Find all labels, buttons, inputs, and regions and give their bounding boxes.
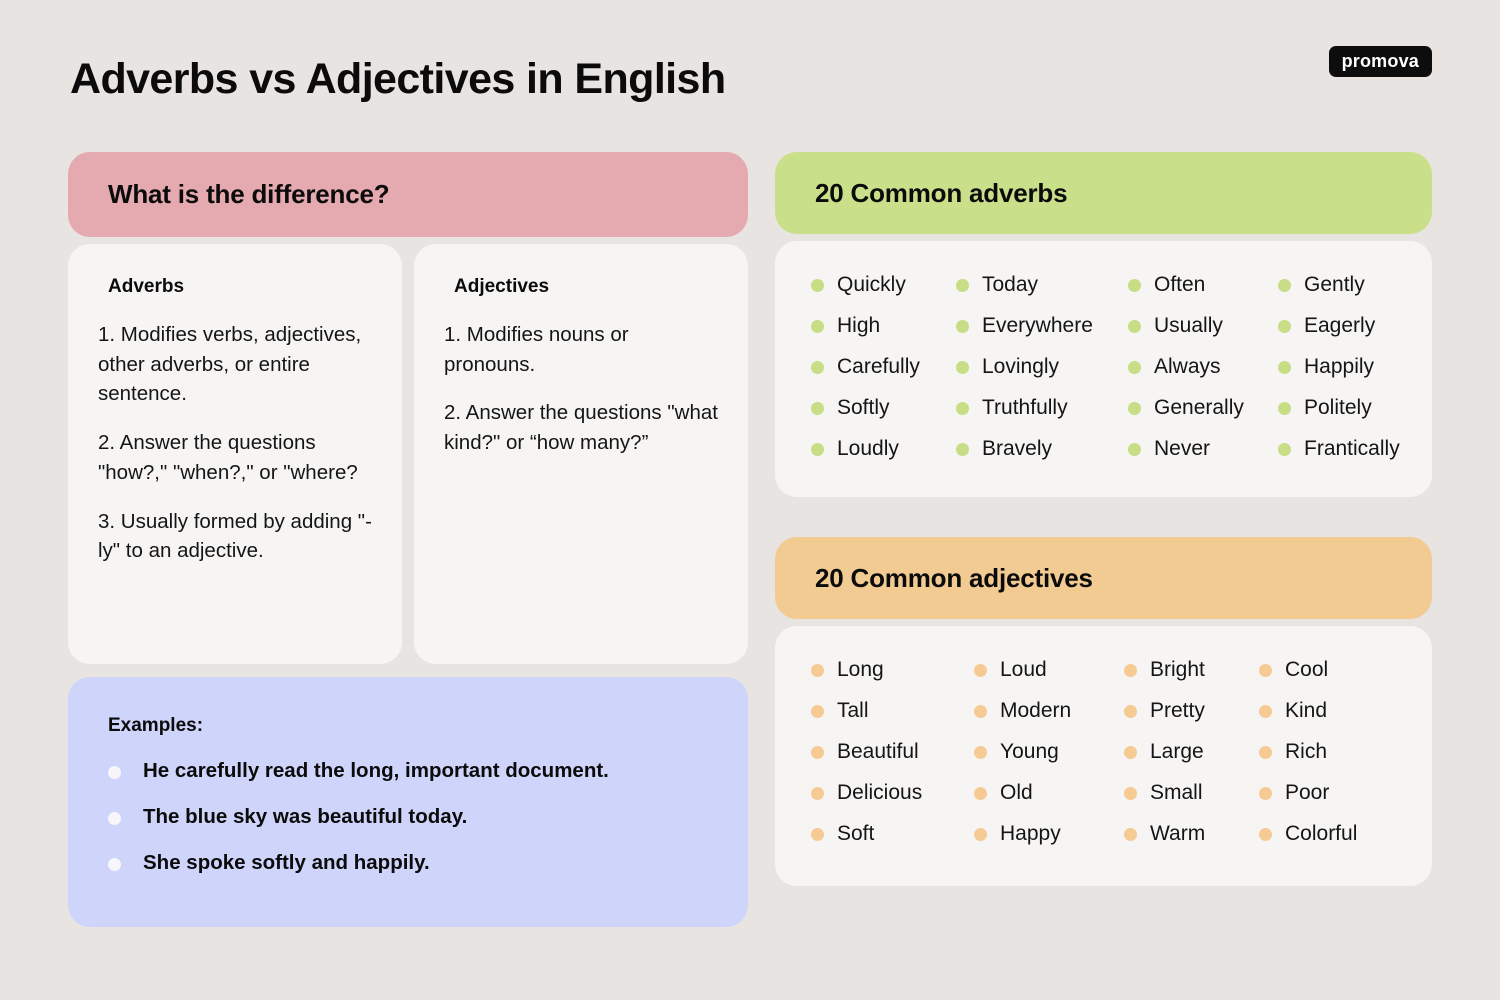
word-label: Usually — [1154, 314, 1223, 338]
bullet-dot-icon — [974, 828, 987, 841]
word-item: Gently — [1278, 273, 1402, 297]
bullet-dot-icon — [956, 279, 969, 292]
page-header: Adverbs vs Adjectives in English promova — [0, 0, 1500, 140]
bullet-dot-icon — [811, 279, 824, 292]
bullet-dot-icon — [811, 828, 824, 841]
word-label: Loudly — [837, 437, 899, 461]
promova-logo: promova — [1329, 46, 1432, 77]
word-item: Politely — [1278, 396, 1402, 420]
word-label: Quickly — [837, 273, 906, 297]
word-label: Rich — [1285, 740, 1327, 764]
word-label: Today — [982, 273, 1038, 297]
word-label: Young — [1000, 740, 1059, 764]
bullet-dot-icon — [1259, 664, 1272, 677]
word-item: Usually — [1128, 314, 1278, 338]
word-label: Poor — [1285, 781, 1329, 805]
bullet-dot-icon — [1259, 705, 1272, 718]
adjectives-definition-heading: Adjectives — [444, 276, 718, 298]
bullet-dot-icon — [1128, 443, 1141, 456]
bullet-dot-icon — [811, 746, 824, 759]
right-column: 20 Common adverbs Quickly Today Often Ge… — [775, 152, 1432, 886]
word-label: Often — [1154, 273, 1205, 297]
word-item: Often — [1128, 273, 1278, 297]
word-label: Old — [1000, 781, 1033, 805]
word-label: Beautiful — [837, 740, 919, 764]
word-item: Small — [1124, 781, 1259, 805]
word-label: Warm — [1150, 822, 1205, 846]
bullet-dot-icon — [811, 361, 824, 374]
word-label: Delicious — [837, 781, 922, 805]
word-label: Pretty — [1150, 699, 1205, 723]
bullet-dot-icon — [811, 320, 824, 333]
word-label: Happy — [1000, 822, 1061, 846]
word-label: Long — [837, 658, 884, 682]
bullet-dot-icon — [956, 320, 969, 333]
bullet-dot-icon — [108, 812, 121, 825]
bullet-dot-icon — [1278, 402, 1291, 415]
word-item: Warm — [1124, 822, 1259, 846]
bullet-dot-icon — [108, 766, 121, 779]
adverbs-banner: 20 Common adverbs — [775, 152, 1432, 234]
bullet-dot-icon — [108, 858, 121, 871]
word-item: Pretty — [1124, 699, 1259, 723]
word-label: Always — [1154, 355, 1221, 379]
word-label: Cool — [1285, 658, 1328, 682]
word-label: Lovingly — [982, 355, 1059, 379]
word-label: Softly — [837, 396, 890, 420]
left-column: What is the difference? Adverbs 1. Modif… — [68, 152, 748, 927]
word-item: Rich — [1259, 740, 1402, 764]
word-item: Tall — [811, 699, 974, 723]
word-label: High — [837, 314, 880, 338]
examples-label: Examples: — [108, 715, 712, 737]
definition-item: 2. Answer the questions "what kind?" or … — [444, 398, 718, 457]
word-label: Bravely — [982, 437, 1052, 461]
adjectives-banner: 20 Common adjectives — [775, 537, 1432, 619]
word-item: Delicious — [811, 781, 974, 805]
promova-logo-text: promova — [1342, 52, 1419, 70]
difference-banner-title: What is the difference? — [108, 179, 389, 210]
word-label: Truthfully — [982, 396, 1068, 420]
word-label: Everywhere — [982, 314, 1093, 338]
definition-item: 1. Modifies verbs, adjectives, other adv… — [98, 320, 372, 409]
bullet-dot-icon — [1278, 279, 1291, 292]
bullet-dot-icon — [956, 402, 969, 415]
word-item: Loud — [974, 658, 1124, 682]
definition-item: 3. Usually formed by adding "-ly" to an … — [98, 507, 372, 566]
word-label: Gently — [1304, 273, 1365, 297]
definition-item: 2. Answer the questions "how?," "when?,"… — [98, 428, 372, 487]
difference-banner: What is the difference? — [68, 152, 748, 237]
word-label: Eagerly — [1304, 314, 1375, 338]
word-item: Bravely — [956, 437, 1128, 461]
word-item: Bright — [1124, 658, 1259, 682]
example-item: He carefully read the long, important do… — [108, 759, 712, 783]
adverbs-definition-card: Adverbs 1. Modifies verbs, adjectives, o… — [68, 244, 402, 664]
adverbs-word-grid: Quickly Today Often Gently High Everywhe… — [811, 273, 1402, 461]
definition-item: 1. Modifies nouns or pronouns. — [444, 320, 718, 379]
word-item: Today — [956, 273, 1128, 297]
word-label: Frantically — [1304, 437, 1400, 461]
word-label: Carefully — [837, 355, 920, 379]
bullet-dot-icon — [1259, 828, 1272, 841]
word-item: Colorful — [1259, 822, 1402, 846]
word-label: Tall — [837, 699, 869, 723]
bullet-dot-icon — [811, 664, 824, 677]
bullet-dot-icon — [811, 443, 824, 456]
bullet-dot-icon — [956, 443, 969, 456]
bullet-dot-icon — [974, 746, 987, 759]
bullet-dot-icon — [1128, 320, 1141, 333]
word-label: Politely — [1304, 396, 1372, 420]
adjectives-word-grid: Long Loud Bright Cool Tall Modern Pretty… — [811, 658, 1402, 846]
adjectives-banner-title: 20 Common adjectives — [815, 563, 1093, 594]
bullet-dot-icon — [974, 705, 987, 718]
word-label: Happily — [1304, 355, 1374, 379]
word-item: Happy — [974, 822, 1124, 846]
word-item: High — [811, 314, 956, 338]
bullet-dot-icon — [1259, 787, 1272, 800]
adverbs-definition-heading: Adverbs — [98, 276, 372, 298]
example-item: The blue sky was beautiful today. — [108, 805, 712, 829]
bullet-dot-icon — [1128, 402, 1141, 415]
word-item: Large — [1124, 740, 1259, 764]
adverbs-definition-list: 1. Modifies verbs, adjectives, other adv… — [98, 320, 372, 566]
word-item: Lovingly — [956, 355, 1128, 379]
adjectives-definition-list: 1. Modifies nouns or pronouns. 2. Answer… — [444, 320, 718, 458]
bullet-dot-icon — [1124, 828, 1137, 841]
section-spacer — [775, 497, 1432, 537]
word-item: Poor — [1259, 781, 1402, 805]
examples-box: Examples: He carefully read the long, im… — [68, 677, 748, 927]
word-item: Long — [811, 658, 974, 682]
example-text: The blue sky was beautiful today. — [143, 805, 467, 829]
bullet-dot-icon — [1124, 664, 1137, 677]
word-item: Always — [1128, 355, 1278, 379]
word-item: Never — [1128, 437, 1278, 461]
bullet-dot-icon — [1124, 787, 1137, 800]
word-item: Modern — [974, 699, 1124, 723]
word-item: Quickly — [811, 273, 956, 297]
definition-cards-row: Adverbs 1. Modifies verbs, adjectives, o… — [68, 244, 748, 664]
bullet-dot-icon — [1128, 279, 1141, 292]
word-label: Small — [1150, 781, 1203, 805]
word-label: Modern — [1000, 699, 1071, 723]
word-item: Generally — [1128, 396, 1278, 420]
word-label: Bright — [1150, 658, 1205, 682]
word-item: Happily — [1278, 355, 1402, 379]
word-item: Beautiful — [811, 740, 974, 764]
bullet-dot-icon — [811, 787, 824, 800]
word-label: Soft — [837, 822, 874, 846]
word-item: Truthfully — [956, 396, 1128, 420]
bullet-dot-icon — [811, 402, 824, 415]
word-item: Cool — [1259, 658, 1402, 682]
word-item: Loudly — [811, 437, 956, 461]
example-text: She spoke softly and happily. — [143, 851, 430, 875]
adjectives-list-panel: Long Loud Bright Cool Tall Modern Pretty… — [775, 626, 1432, 886]
examples-list: He carefully read the long, important do… — [108, 759, 712, 875]
adverbs-list-panel: Quickly Today Often Gently High Everywhe… — [775, 241, 1432, 497]
word-label: Loud — [1000, 658, 1047, 682]
word-label: Never — [1154, 437, 1210, 461]
example-item: She spoke softly and happily. — [108, 851, 712, 875]
adverbs-banner-title: 20 Common adverbs — [815, 178, 1067, 209]
word-item: Young — [974, 740, 1124, 764]
word-label: Generally — [1154, 396, 1244, 420]
bullet-dot-icon — [1278, 320, 1291, 333]
bullet-dot-icon — [956, 361, 969, 374]
bullet-dot-icon — [1259, 746, 1272, 759]
word-item: Carefully — [811, 355, 956, 379]
bullet-dot-icon — [974, 787, 987, 800]
word-item: Old — [974, 781, 1124, 805]
bullet-dot-icon — [1124, 746, 1137, 759]
bullet-dot-icon — [1278, 443, 1291, 456]
word-item: Eagerly — [1278, 314, 1402, 338]
adjectives-definition-card: Adjectives 1. Modifies nouns or pronouns… — [414, 244, 748, 664]
example-text: He carefully read the long, important do… — [143, 759, 609, 783]
word-label: Colorful — [1285, 822, 1357, 846]
bullet-dot-icon — [974, 664, 987, 677]
bullet-dot-icon — [1124, 705, 1137, 718]
bullet-dot-icon — [1278, 361, 1291, 374]
word-item: Frantically — [1278, 437, 1402, 461]
bullet-dot-icon — [811, 705, 824, 718]
word-item: Softly — [811, 396, 956, 420]
bullet-dot-icon — [1128, 361, 1141, 374]
word-label: Kind — [1285, 699, 1327, 723]
word-item: Kind — [1259, 699, 1402, 723]
page-title: Adverbs vs Adjectives in English — [70, 55, 726, 104]
word-item: Everywhere — [956, 314, 1128, 338]
word-label: Large — [1150, 740, 1204, 764]
word-item: Soft — [811, 822, 974, 846]
